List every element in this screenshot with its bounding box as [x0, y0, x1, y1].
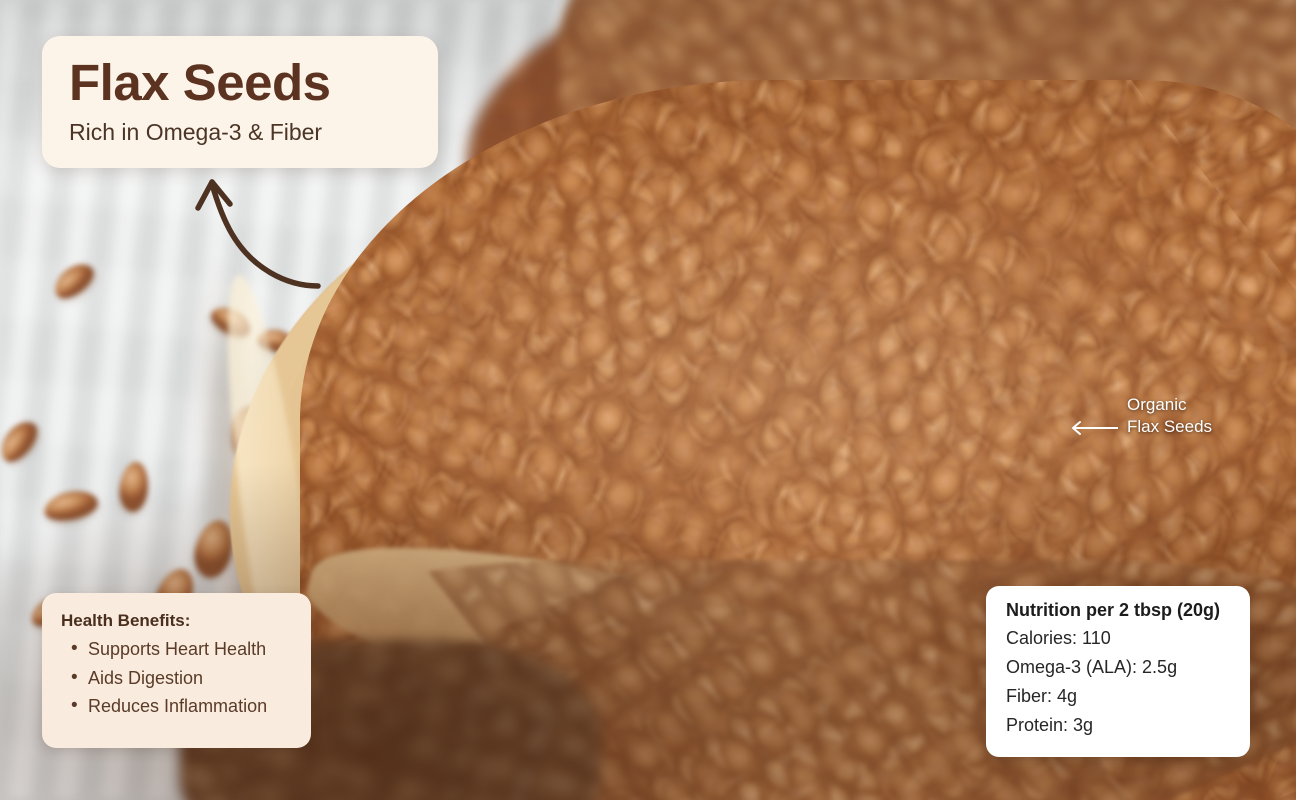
list-item: Reduces Inflammation [61, 695, 295, 718]
nutrition-heading: Nutrition per 2 tbsp (20g) [1006, 600, 1234, 621]
organic-flax-seeds-annotation: Organic Flax Seeds [1127, 394, 1212, 439]
nutrition-row-fiber: Fiber: 4g [1006, 682, 1234, 711]
title-card: Flax Seeds Rich in Omega-3 & Fiber [42, 36, 438, 168]
curved-callout-arrow [190, 168, 335, 293]
annotation-line-2: Flax Seeds [1127, 416, 1212, 438]
health-benefits-list: Supports Heart Health Aids Digestion Red… [61, 638, 295, 718]
annotation-line-1: Organic [1127, 394, 1212, 416]
nutrition-row-calories: Calories: 110 [1006, 624, 1234, 653]
annotation-arrow-left-icon [1068, 419, 1120, 437]
infographic-canvas: Flax Seeds Rich in Omega-3 & Fiber Organ… [0, 0, 1296, 800]
list-item: Aids Digestion [61, 667, 295, 690]
nutrition-card: Nutrition per 2 tbsp (20g) Calories: 110… [986, 586, 1250, 757]
list-item: Supports Heart Health [61, 638, 295, 661]
page-subtitle: Rich in Omega-3 & Fiber [69, 119, 412, 146]
nutrition-row-omega3: Omega-3 (ALA): 2.5g [1006, 653, 1234, 682]
health-benefits-heading: Health Benefits: [61, 611, 295, 631]
page-title: Flax Seeds [69, 56, 412, 110]
health-benefits-card: Health Benefits: Supports Heart Health A… [42, 593, 311, 748]
nutrition-row-protein: Protein: 3g [1006, 711, 1234, 740]
